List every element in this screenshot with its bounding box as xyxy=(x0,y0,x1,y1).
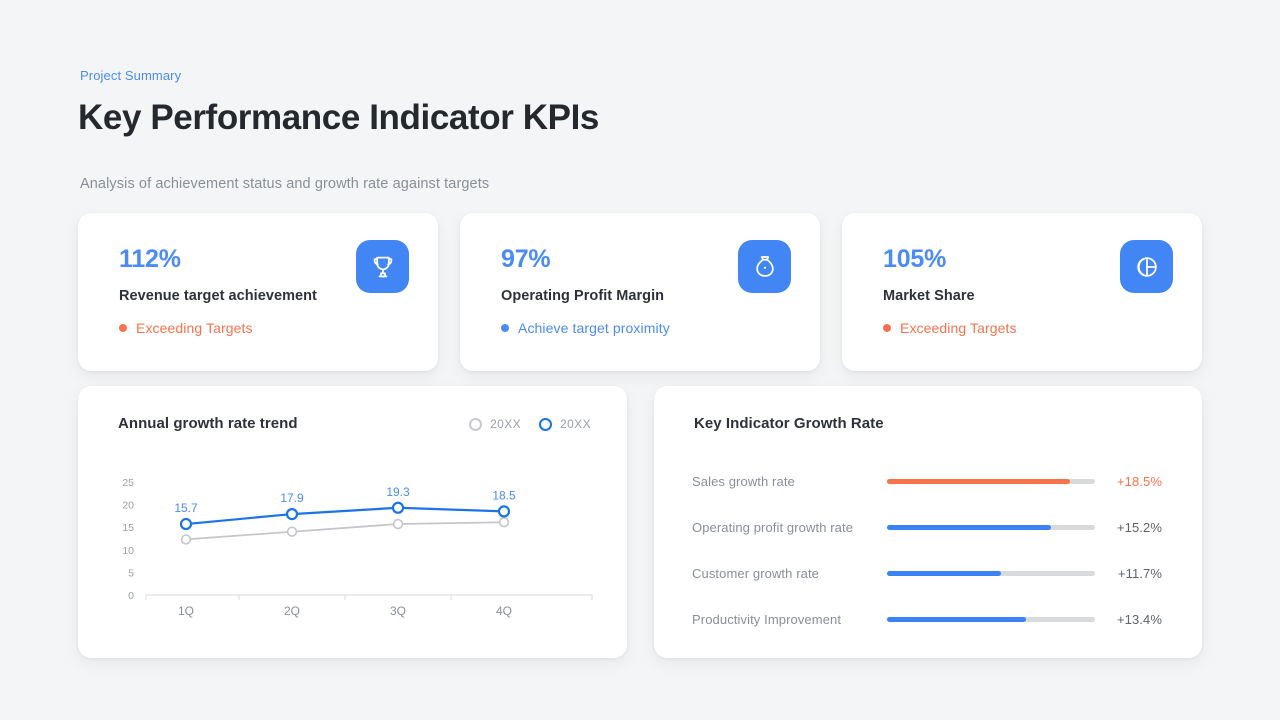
kpi-label: Operating Profit Margin xyxy=(501,288,664,304)
growth-progress-track xyxy=(887,571,1095,576)
chart-point-blue xyxy=(499,506,509,516)
growth-rate-value: +13.4% xyxy=(1095,612,1180,627)
growth-progress-track xyxy=(887,617,1095,622)
chart-line-blue xyxy=(186,508,504,524)
y-axis-tick-label: 0 xyxy=(128,590,134,602)
growth-rate-label: Operating profit growth rate xyxy=(692,520,892,535)
panel-title: Key Indicator Growth Rate xyxy=(694,415,884,432)
status-text: Achieve target proximity xyxy=(518,320,670,336)
status-badge: Exceeding Targets xyxy=(883,320,1017,336)
x-axis-tick-label: 2Q xyxy=(284,604,300,618)
page-title: Key Performance Indicator KPIs xyxy=(78,98,599,138)
chart-point-blue xyxy=(287,509,297,519)
kpi-value: 97% xyxy=(501,245,550,274)
status-badge: Achieve target proximity xyxy=(501,320,670,336)
growth-rate-row: Operating profit growth rate+15.2% xyxy=(692,504,1180,550)
y-axis-tick-label: 10 xyxy=(122,545,134,557)
kpi-label: Market Share xyxy=(883,288,975,304)
growth-progress-fill xyxy=(887,525,1051,530)
x-axis-tick-label: 1Q xyxy=(178,604,194,618)
panel-title: Annual growth rate trend xyxy=(118,415,298,432)
legend-label: 20XX xyxy=(490,417,521,431)
chart-point-gray xyxy=(500,518,509,527)
trophy-icon xyxy=(356,240,409,293)
annual-growth-trend-panel: Annual growth rate trend 20XX 20XX 05101… xyxy=(78,386,627,658)
x-axis-tick-label: 4Q xyxy=(496,604,512,618)
growth-progress-fill xyxy=(887,571,1001,576)
chart-point-blue xyxy=(393,503,403,513)
chart-point-blue xyxy=(181,519,191,529)
growth-rate-value: +11.7% xyxy=(1095,566,1180,581)
growth-rate-row: Productivity Improvement+13.4% xyxy=(692,596,1180,642)
status-badge: Exceeding Targets xyxy=(119,320,253,336)
chart-data-label: 15.7 xyxy=(174,501,198,515)
money-bag-icon xyxy=(738,240,791,293)
kpi-value: 112% xyxy=(119,245,181,274)
legend-item-series-1[interactable]: 20XX xyxy=(469,417,521,431)
growth-rate-list: Sales growth rate+18.5%Operating profit … xyxy=(692,458,1180,642)
page-subtitle: Analysis of achievement status and growt… xyxy=(80,176,489,192)
chart-point-gray xyxy=(182,535,191,544)
growth-rate-value: +15.2% xyxy=(1095,520,1180,535)
status-text: Exceeding Targets xyxy=(900,320,1017,336)
legend-label: 20XX xyxy=(560,417,591,431)
chart-line-gray xyxy=(186,522,504,539)
chart-legend: 20XX 20XX xyxy=(469,417,591,431)
y-axis-tick-label: 25 xyxy=(122,477,134,489)
chart-point-gray xyxy=(394,520,403,529)
y-axis-tick-label: 15 xyxy=(122,522,134,534)
growth-progress-fill xyxy=(887,617,1026,622)
status-dot xyxy=(883,324,891,332)
slide-canvas: Project Summary Key Performance Indicato… xyxy=(0,0,1280,720)
growth-rate-label: Customer growth rate xyxy=(692,566,892,581)
growth-rate-row: Customer growth rate+11.7% xyxy=(692,550,1180,596)
eyebrow-label: Project Summary xyxy=(80,68,181,83)
legend-item-series-2[interactable]: 20XX xyxy=(539,417,591,431)
kpi-value: 105% xyxy=(883,245,946,274)
chart-data-label: 17.9 xyxy=(280,491,304,505)
pie-chart-icon xyxy=(1120,240,1173,293)
chart-point-gray xyxy=(288,527,297,536)
chart-data-label: 19.3 xyxy=(386,485,410,499)
growth-rate-label: Productivity Improvement xyxy=(692,612,892,627)
y-axis-tick-label: 20 xyxy=(122,500,134,512)
kpi-card-row: 112% Revenue target achievement Exceedin… xyxy=(78,213,1202,371)
growth-rate-row: Sales growth rate+18.5% xyxy=(692,458,1180,504)
status-dot xyxy=(501,324,509,332)
growth-progress-fill xyxy=(887,479,1070,484)
legend-marker-blue-icon xyxy=(539,418,552,431)
kpi-card-operating-profit[interactable]: 97% Operating Profit Margin Achieve targ… xyxy=(460,213,820,371)
y-axis-tick-label: 5 xyxy=(128,567,134,579)
chart-data-label: 18.5 xyxy=(492,488,516,502)
status-text: Exceeding Targets xyxy=(136,320,253,336)
key-indicator-growth-panel: Key Indicator Growth Rate Sales growth r… xyxy=(654,386,1202,658)
legend-marker-gray-icon xyxy=(469,418,482,431)
growth-rate-value: +18.5% xyxy=(1095,474,1180,489)
kpi-label: Revenue target achievement xyxy=(119,288,317,304)
line-chart: 05101520251Q2Q3Q4Q15.717.919.318.5 xyxy=(102,458,607,623)
growth-progress-track xyxy=(887,525,1095,530)
growth-progress-track xyxy=(887,479,1095,484)
kpi-card-market-share[interactable]: 105% Market Share Exceeding Targets xyxy=(842,213,1202,371)
kpi-card-revenue[interactable]: 112% Revenue target achievement Exceedin… xyxy=(78,213,438,371)
growth-rate-label: Sales growth rate xyxy=(692,474,892,489)
status-dot xyxy=(119,324,127,332)
x-axis-tick-label: 3Q xyxy=(390,604,406,618)
